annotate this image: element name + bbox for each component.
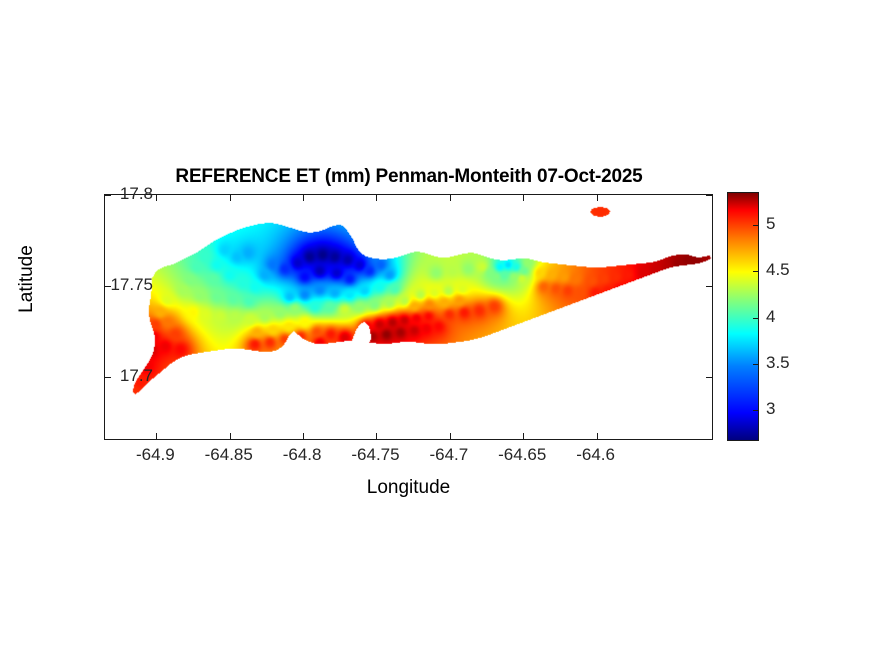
colorbar-tick-label: 4 — [766, 307, 775, 327]
x-tick-label: -64.8 — [283, 445, 322, 465]
y-tick-mark — [706, 286, 712, 287]
et-heatmap-image — [105, 195, 712, 439]
x-tick-mark — [303, 433, 304, 439]
x-tick-label: -64.6 — [576, 445, 615, 465]
x-tick-label: -64.65 — [498, 445, 546, 465]
y-tick-mark — [105, 377, 111, 378]
x-tick-mark — [523, 433, 524, 439]
colorbar-tick-mark — [753, 271, 758, 272]
page-title: REFERENCE ET (mm) Penman-Monteith 07-Oct… — [104, 166, 714, 188]
colorbar-tick-label: 4.5 — [766, 260, 790, 280]
colorbar-tick-mark — [753, 225, 758, 226]
x-tick-mark — [450, 195, 451, 201]
x-tick-mark — [376, 195, 377, 201]
x-tick-mark — [376, 433, 377, 439]
x-tick-mark — [597, 433, 598, 439]
x-tick-mark — [303, 195, 304, 201]
x-tick-label: -64.85 — [205, 445, 253, 465]
colorbar-tick-label: 5 — [766, 214, 775, 234]
x-axis-label: Longitude — [104, 477, 713, 499]
x-tick-mark — [156, 433, 157, 439]
map-axes[interactable] — [104, 194, 713, 440]
y-tick-mark — [706, 195, 712, 196]
y-tick-label: 17.8 — [120, 184, 161, 204]
colorbar-tick-label: 3.5 — [766, 353, 790, 373]
x-tick-label: -64.7 — [429, 445, 468, 465]
x-tick-label: -64.9 — [136, 445, 175, 465]
colorbar-tick-mark — [753, 364, 758, 365]
x-tick-mark — [597, 195, 598, 201]
y-tick-label: 17.7 — [120, 366, 161, 386]
colorbar-tick-mark — [753, 410, 758, 411]
x-tick-mark — [230, 433, 231, 439]
colorbar-tick-mark — [753, 318, 758, 319]
figure-canvas: REFERENCE ET (mm) Penman-Monteith 07-Oct… — [0, 0, 875, 656]
y-tick-label: 17.75 — [110, 275, 161, 295]
colorbar[interactable] — [727, 192, 759, 441]
x-tick-mark — [450, 433, 451, 439]
y-tick-mark — [105, 195, 111, 196]
x-tick-label: -64.75 — [351, 445, 399, 465]
x-tick-mark — [230, 195, 231, 201]
x-tick-mark — [523, 195, 524, 201]
colorbar-tick-label: 3 — [766, 399, 775, 419]
y-tick-mark — [706, 377, 712, 378]
y-axis-label: Latitude — [16, 214, 38, 344]
